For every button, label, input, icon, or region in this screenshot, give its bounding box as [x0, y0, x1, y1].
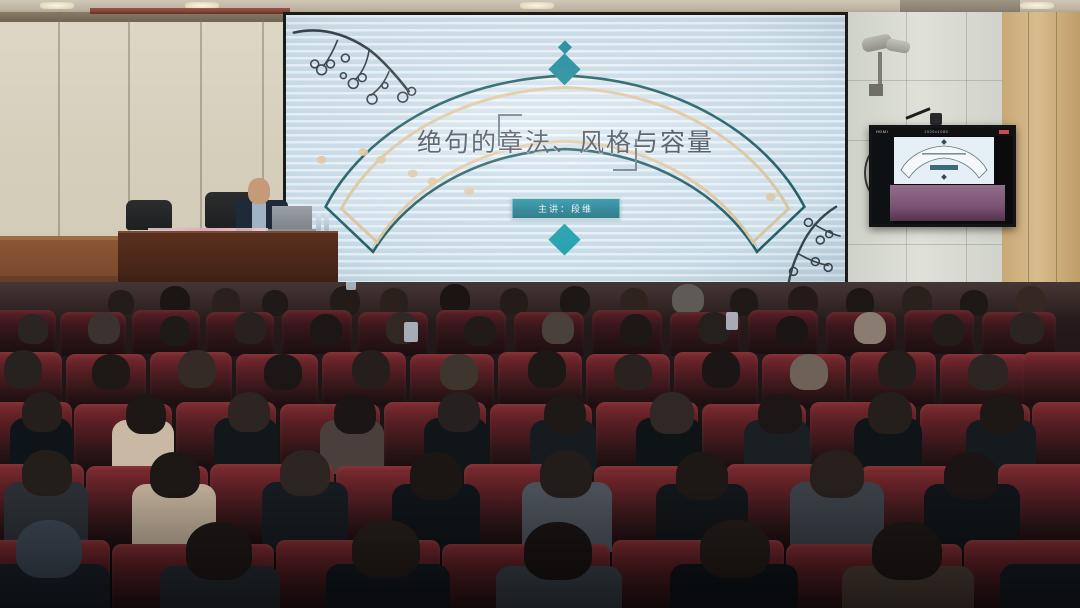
audience-head — [228, 392, 270, 432]
audience-head — [676, 452, 728, 500]
audience-head — [700, 520, 770, 578]
audience-head — [810, 450, 864, 498]
water-bottle — [324, 214, 329, 231]
audience-head — [528, 350, 566, 388]
tv-mirrored-slide — [894, 137, 994, 184]
audience-head — [280, 450, 330, 496]
camera-icon — [930, 113, 942, 125]
audience-head — [22, 450, 72, 496]
audience-head — [614, 354, 652, 390]
laptop-screen — [272, 206, 312, 230]
audience-head — [126, 394, 166, 434]
audience-head — [1010, 312, 1044, 344]
audience-head — [702, 350, 740, 388]
audience-head — [440, 354, 478, 390]
audience-head — [968, 354, 1008, 390]
audience-head — [186, 522, 252, 580]
ceiling-light — [520, 2, 554, 9]
audience-head — [310, 314, 342, 346]
audience-head — [854, 312, 886, 344]
wood-seam — [1056, 12, 1057, 312]
audience-head — [672, 284, 704, 314]
audience-head-with-cap — [16, 520, 82, 578]
audience-head — [264, 354, 302, 390]
audience-head — [540, 450, 592, 498]
speaker-shirt — [252, 203, 266, 231]
tv-lower-reflection — [890, 185, 1005, 221]
audience-head — [872, 522, 942, 580]
phone-screen — [726, 312, 738, 330]
audience-head — [438, 392, 480, 432]
presentation-slide: 绝句的章法、风格与容量 主讲：段维 — [286, 15, 845, 289]
tv-resolution-label: 1920x1080 — [924, 129, 948, 134]
phone-screen — [346, 282, 356, 290]
wall-mounted-tv: HDMI 1920x1080 — [869, 125, 1016, 227]
audience-head — [868, 392, 912, 434]
auditorium-seat — [1032, 402, 1080, 468]
audience-torso — [1000, 564, 1080, 608]
tv-input-label: HDMI — [876, 129, 888, 134]
ceiling-light — [1020, 2, 1054, 9]
audience-head — [944, 452, 998, 500]
audience-head — [464, 316, 496, 346]
audience-head — [650, 392, 694, 434]
junction-box — [869, 84, 883, 96]
tv-osd-bar: HDMI 1920x1080 — [872, 128, 1013, 136]
auditorium-seat — [1022, 352, 1080, 406]
audience-head — [352, 520, 420, 578]
office-chair — [126, 200, 172, 230]
tv-fan-graphic — [894, 137, 994, 184]
speaker-head — [248, 178, 270, 204]
audience-area — [0, 282, 1080, 608]
lecture-hall-photo: 绝句的章法、风格与容量 主讲：段维 HDMI 1920x1080 — [0, 0, 1080, 608]
audience-head — [22, 392, 62, 432]
audience-head — [980, 394, 1024, 434]
audience-head — [352, 350, 390, 388]
audience-head — [790, 354, 828, 390]
cable-conduit — [878, 52, 882, 86]
audience-head — [758, 394, 802, 434]
audience-head — [4, 350, 42, 388]
tv-record-indicator — [999, 130, 1009, 134]
audience-head — [150, 452, 200, 498]
water-bottle — [316, 214, 321, 231]
phone-screen — [404, 322, 418, 342]
audience-head — [334, 394, 376, 434]
audience-head — [178, 350, 216, 388]
audience-head — [932, 314, 964, 346]
audience-head — [542, 312, 574, 344]
audience-head — [410, 452, 462, 500]
audience-head — [524, 522, 592, 580]
audience-head — [234, 312, 266, 344]
ceiling-light — [40, 2, 74, 9]
screen-vignette — [286, 15, 845, 289]
wall-red-trim — [90, 8, 290, 14]
audience-head — [92, 354, 130, 390]
audience-head — [88, 312, 120, 344]
audience-head — [544, 394, 586, 434]
audience-head — [878, 350, 916, 388]
audience-head — [160, 316, 190, 346]
audience-head — [620, 314, 652, 346]
led-screen: 绝句的章法、风格与容量 主讲：段维 — [283, 12, 848, 292]
audience-head — [18, 314, 48, 344]
wood-seam — [1028, 12, 1029, 312]
audience-head — [776, 316, 808, 346]
